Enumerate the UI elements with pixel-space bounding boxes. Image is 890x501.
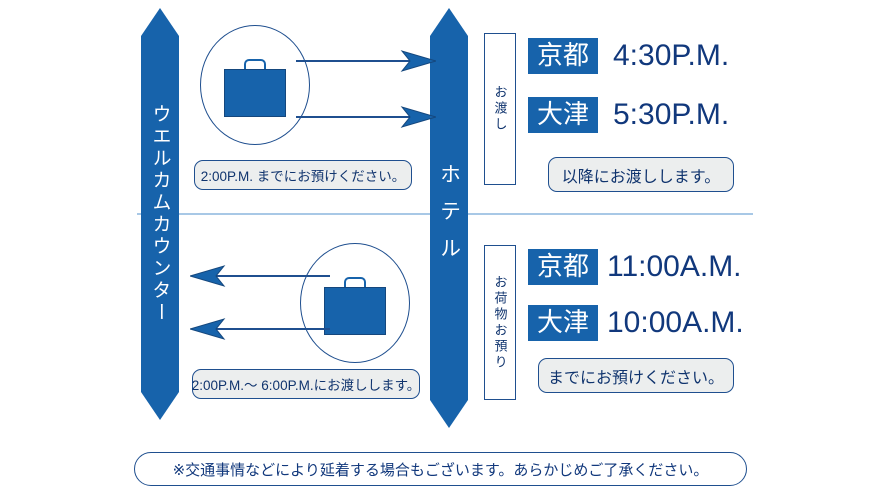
callout-handover-window-text: 2:00P.M.〜 6:00P.M.にお渡しします。 — [192, 374, 420, 394]
suitcase-icon — [224, 56, 286, 118]
time-otsu-handover: 5:30P.M. — [613, 100, 729, 130]
callout-handover-window: 2:00P.M.〜 6:00P.M.にお渡しします。 — [192, 369, 420, 399]
arrow-left-icon — [190, 318, 330, 340]
label-box-baggage-storage: お荷物お預り — [484, 245, 516, 400]
ribbon-welcome-counter-label: ウエルカムカウンター — [151, 104, 170, 324]
note-storage-deadline: までにお預けください。 — [538, 358, 734, 393]
note-storage-deadline-text: までにお預けください。 — [548, 364, 724, 388]
footer-notice-text: ※交通事情などにより延着する場合もございます。あらかじめご了承ください。 — [173, 459, 709, 480]
city-tag-otsu-handover: 大津 — [528, 97, 598, 133]
diagram-canvas: ウエルカムカウンター ホテル 2:00P.M. までにお預けください。 お渡し … — [0, 0, 890, 501]
footer-notice: ※交通事情などにより延着する場合もございます。あらかじめご了承ください。 — [134, 452, 747, 486]
city-tag-label: 大津 — [537, 101, 589, 127]
time-otsu-storage: 10:00A.M. — [607, 308, 744, 338]
time-kyoto-storage: 11:00A.M. — [607, 252, 742, 282]
note-handover-after: 以降にお渡しします。 — [548, 157, 734, 192]
label-box-handover: お渡し — [484, 33, 516, 185]
note-handover-after-text: 以降にお渡しします。 — [562, 163, 720, 187]
suitcase-icon — [324, 274, 386, 336]
city-tag-label: 京都 — [537, 42, 589, 68]
arrow-right-icon — [296, 50, 436, 72]
suitcase-body — [324, 287, 386, 335]
time-kyoto-handover: 4:30P.M. — [613, 41, 729, 71]
ribbon-hotel-label: ホテル — [439, 163, 460, 274]
callout-deposit-deadline-text: 2:00P.M. までにお預けください。 — [201, 165, 406, 185]
city-tag-otsu-storage: 大津 — [528, 305, 598, 341]
callout-deposit-deadline: 2:00P.M. までにお預けください。 — [194, 160, 412, 190]
city-tag-kyoto-storage: 京都 — [528, 249, 598, 285]
label-box-handover-text: お渡し — [494, 85, 507, 133]
city-tag-label: 大津 — [537, 309, 589, 335]
city-tag-kyoto-handover: 京都 — [528, 38, 598, 74]
city-tag-label: 京都 — [537, 253, 589, 279]
label-box-baggage-storage-text: お荷物お預り — [494, 275, 507, 371]
arrow-right-icon — [296, 106, 436, 128]
arrow-left-icon — [190, 265, 330, 287]
suitcase-body — [224, 69, 286, 117]
ribbon-welcome-counter: ウエルカムカウンター — [141, 8, 179, 420]
